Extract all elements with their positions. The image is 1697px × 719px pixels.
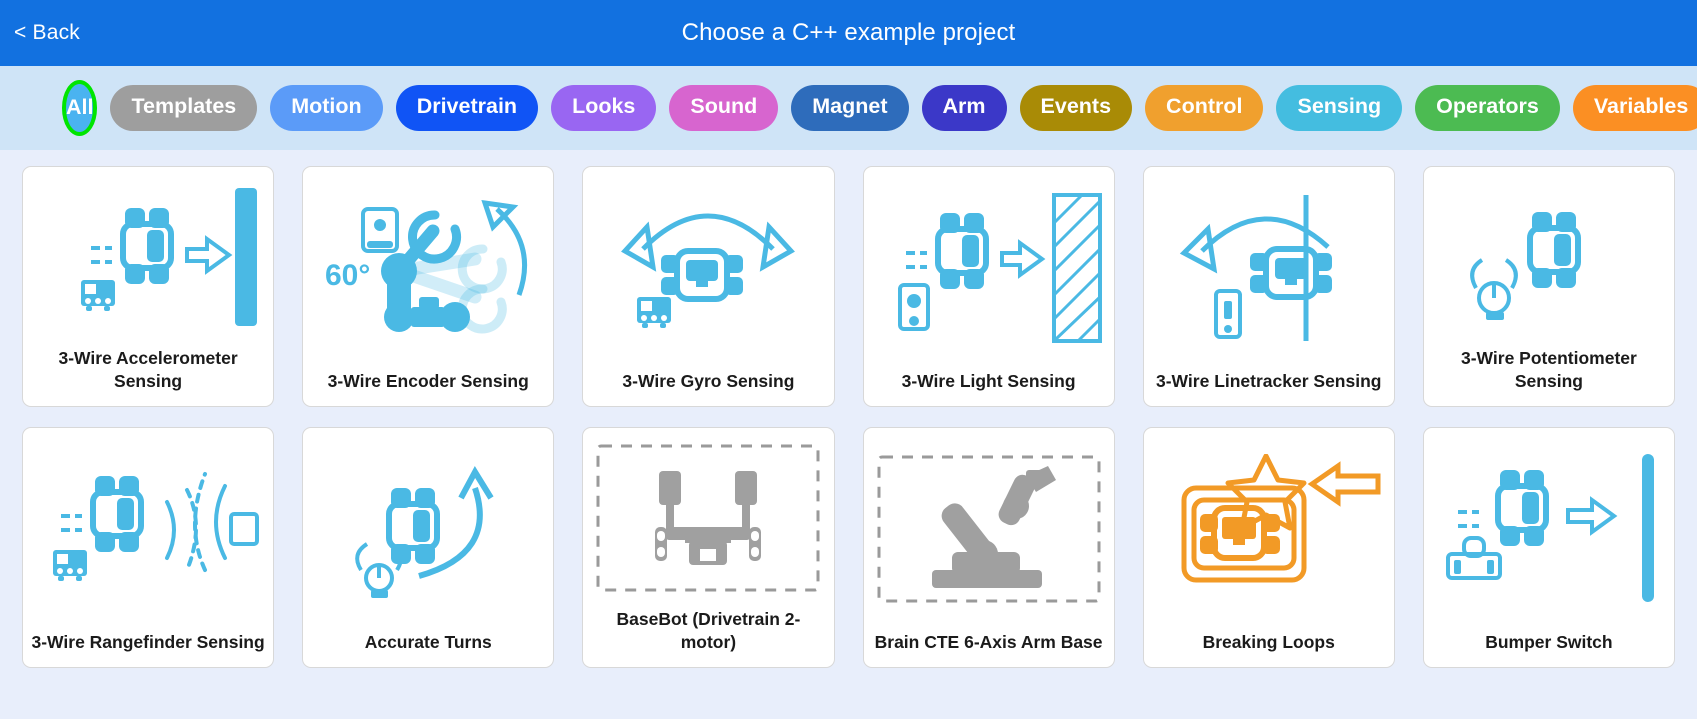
robot-turn-icon xyxy=(303,428,553,631)
basebot-chassis-icon xyxy=(583,428,833,608)
project-card[interactable]: 60°3-Wire Encoder Sensing xyxy=(302,166,554,407)
filter-chip-motion[interactable]: Motion xyxy=(270,85,382,131)
filter-chip-all[interactable]: All xyxy=(62,80,97,136)
loop-break-icon xyxy=(1144,428,1394,631)
project-card-title: BaseBot (Drivetrain 2-motor) xyxy=(583,608,833,667)
filter-chip-sensing[interactable]: Sensing xyxy=(1276,85,1402,131)
filter-chip-templates[interactable]: Templates xyxy=(110,85,257,131)
page-title: Choose a C++ example project xyxy=(0,19,1697,47)
project-card-title: 3-Wire Accelerometer Sensing xyxy=(23,347,273,406)
filter-chip-label: Sensing xyxy=(1297,94,1381,118)
filter-chip-label: Variables xyxy=(1594,94,1688,118)
project-card-title: Brain CTE 6-Axis Arm Base xyxy=(864,631,1114,667)
project-card[interactable]: BaseBot (Drivetrain 2-motor) xyxy=(582,427,834,668)
filter-chip-arm[interactable]: Arm xyxy=(922,85,1007,131)
project-card-title: Breaking Loops xyxy=(1144,631,1394,667)
filter-chip-label: Motion xyxy=(291,94,361,118)
robot-accelerometer-icon xyxy=(23,167,273,347)
robot-rangefinder-icon xyxy=(23,428,273,631)
six-axis-arm-icon xyxy=(864,428,1114,631)
robot-gyro-icon xyxy=(583,167,833,370)
filter-chip-magnet[interactable]: Magnet xyxy=(791,85,908,131)
svg-text:60°: 60° xyxy=(325,259,370,292)
filter-chip-operators[interactable]: Operators xyxy=(1415,85,1560,131)
filter-chip-label: Control xyxy=(1166,94,1242,118)
robot-linetracker-icon xyxy=(1144,167,1394,370)
filter-chip-label: Templates xyxy=(131,94,236,118)
filter-chip-label: Arm xyxy=(943,94,986,118)
project-card-title: 3-Wire Rangefinder Sensing xyxy=(23,631,273,667)
example-project-grid: 3-Wire Accelerometer Sensing60°3-Wire En… xyxy=(0,150,1697,719)
project-card[interactable]: 3-Wire Rangefinder Sensing xyxy=(22,427,274,668)
project-card[interactable]: Brain CTE 6-Axis Arm Base xyxy=(863,427,1115,668)
project-card[interactable]: 3-Wire Gyro Sensing xyxy=(582,166,834,407)
project-card-title: 3-Wire Encoder Sensing xyxy=(303,370,553,406)
project-card[interactable]: 3-Wire Potentiometer Sensing xyxy=(1423,166,1675,407)
app-header: < Back Choose a C++ example project xyxy=(0,0,1697,66)
filter-chip-label: Drivetrain xyxy=(417,94,517,118)
project-card-title: 3-Wire Linetracker Sensing xyxy=(1144,370,1394,406)
back-button[interactable]: < Back xyxy=(14,21,80,45)
project-card-title: Accurate Turns xyxy=(303,631,553,667)
project-card[interactable]: 3-Wire Linetracker Sensing xyxy=(1143,166,1395,407)
filter-chip-sound[interactable]: Sound xyxy=(669,85,778,131)
filter-chip-variables[interactable]: Variables xyxy=(1573,85,1697,131)
filter-chip-control[interactable]: Control xyxy=(1145,85,1263,131)
robot-bumper-icon xyxy=(1424,428,1674,631)
robot-potentiometer-icon xyxy=(1424,167,1674,347)
robot-light-icon xyxy=(864,167,1114,370)
filter-chip-label: Operators xyxy=(1436,94,1539,118)
arm-encoder-icon: 60° xyxy=(303,167,553,370)
filter-chip-label: Sound xyxy=(690,94,757,118)
filter-chip-events[interactable]: Events xyxy=(1020,85,1133,131)
project-card-title: 3-Wire Potentiometer Sensing xyxy=(1424,347,1674,406)
filter-chip-looks[interactable]: Looks xyxy=(551,85,656,131)
filter-chip-drivetrain[interactable]: Drivetrain xyxy=(396,85,538,131)
filter-chip-label: Looks xyxy=(572,94,635,118)
category-filter-bar: AllTemplatesMotionDrivetrainLooksSoundMa… xyxy=(0,66,1697,150)
project-card-title: 3-Wire Light Sensing xyxy=(864,370,1114,406)
project-card[interactable]: 3-Wire Light Sensing xyxy=(863,166,1115,407)
filter-chip-label: Events xyxy=(1041,94,1112,118)
project-card[interactable]: Bumper Switch xyxy=(1423,427,1675,668)
project-card[interactable]: Breaking Loops xyxy=(1143,427,1395,668)
project-card-title: Bumper Switch xyxy=(1424,631,1674,667)
filter-chip-label: All xyxy=(66,97,93,119)
project-card[interactable]: Accurate Turns xyxy=(302,427,554,668)
project-card[interactable]: 3-Wire Accelerometer Sensing xyxy=(22,166,274,407)
project-card-title: 3-Wire Gyro Sensing xyxy=(583,370,833,406)
filter-chip-label: Magnet xyxy=(812,94,887,118)
